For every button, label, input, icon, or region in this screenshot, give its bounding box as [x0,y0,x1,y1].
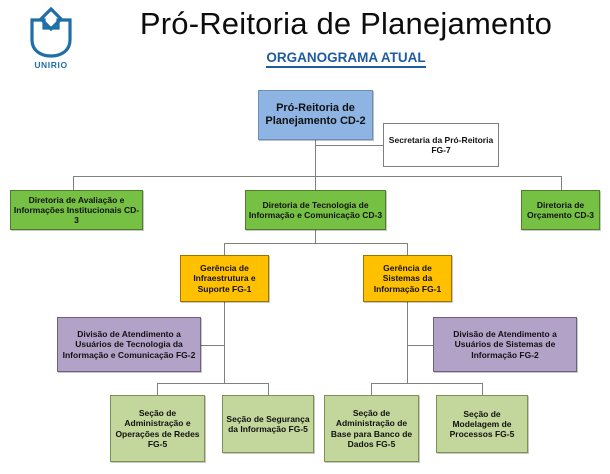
connector-bus-gerencias [224,243,408,244]
connector-dir-tic-down [315,230,316,243]
node-label: Gerência de Sistemas da Informação FG-1 [364,263,451,293]
connector-bus-secoes-infra [157,383,269,384]
connector-ger-sistemas-divisao [407,345,433,346]
node-divisao-atendimento-usuarios-tic[interactable]: Divisão de Atendimento a Usuários de Tec… [57,317,201,372]
connector-bus-diretorias [73,176,562,177]
connector-drop-sec-modelagem [482,383,483,395]
node-secao-modelagem-processos[interactable]: Seção de Modelagem de Processos FG-5 [436,395,528,453]
node-label: Seção de Segurança da Informação FG-5 [223,414,313,434]
node-label: Divisão de Atendimento a Usuários de Sis… [434,329,576,359]
connector-drop-dir-tic [315,176,316,190]
node-gerencia-infraestrutura-suporte[interactable]: Gerência de Infraestrutura e Suporte FG-… [180,255,269,302]
node-label: Seção de Modelagem de Processos FG-5 [437,409,527,439]
node-secretaria-pro-reitoria[interactable]: Secretaria da Pró-Reitoria FG-7 [383,123,499,167]
page-subtitle: ORGANOGRAMA ATUAL [96,50,596,65]
logo-caption: UNIRIO [18,60,84,70]
node-label: Secretaria da Pró-Reitoria FG-7 [384,135,498,155]
node-pro-reitoria-planejamento[interactable]: Pró-Reitoria de Planejamento CD-2 [258,90,373,140]
node-secao-administracao-banco-dados[interactable]: Seção de Administração de Base para Banc… [324,395,419,462]
connector-drop-ger-infra [224,243,225,255]
connector-drop-sec-redes [157,383,158,395]
connector-ger-infra-divisao [201,345,225,346]
node-label: Seção de Administração de Base para Banc… [325,408,418,448]
node-label: Diretoria de Tecnologia de Informação e … [246,200,385,220]
node-diretoria-tecnologia-informacao[interactable]: Diretoria de Tecnologia de Informação e … [245,190,386,230]
node-label: Diretoria de Avaliação e Informações Ins… [11,195,142,225]
organogram-chart: UNIRIO Pró-Reitoria de Planejamento ORGA… [0,0,610,474]
node-label: Gerência de Infraestrutura e Suporte FG-… [181,263,268,293]
node-label: Diretoria de Orçamento CD-3 [522,200,599,220]
node-diretoria-orcamento[interactable]: Diretoria de Orçamento CD-3 [521,190,600,230]
connector-drop-dir-orcamento [561,176,562,190]
connector-proreitoria-stub-down [315,140,316,176]
node-label: Pró-Reitoria de Planejamento CD-2 [259,102,372,128]
connector-proreitoria-secretaria [315,145,383,146]
node-secao-seguranca-informacao[interactable]: Seção de Segurança da Informação FG-5 [222,395,314,453]
node-secao-administracao-operacoes-redes[interactable]: Seção de Administração e Operações de Re… [110,395,205,462]
connector-drop-dir-avaliacao [73,176,74,190]
connector-drop-sec-seguranca [268,383,269,395]
node-divisao-atendimento-usuarios-sistemas[interactable]: Divisão de Atendimento a Usuários de Sis… [433,317,577,372]
connector-ger-infra-spine [224,302,225,383]
node-diretoria-avaliacao[interactable]: Diretoria de Avaliação e Informações Ins… [10,190,143,230]
connector-bus-secoes-sistemas [371,383,482,384]
node-label: Divisão de Atendimento a Usuários de Tec… [58,329,200,359]
connector-drop-sec-banco [371,383,372,395]
page-title: Pró-Reitoria de Planejamento [96,6,596,42]
node-label: Seção de Administração e Operações de Re… [111,408,204,448]
node-gerencia-sistemas-informacao[interactable]: Gerência de Sistemas da Informação FG-1 [363,255,452,302]
page-subtitle-text: ORGANOGRAMA ATUAL [266,50,425,68]
connector-ger-sistemas-spine [407,302,408,383]
connector-drop-ger-sistemas [407,243,408,255]
unirio-logo: UNIRIO [18,6,84,76]
